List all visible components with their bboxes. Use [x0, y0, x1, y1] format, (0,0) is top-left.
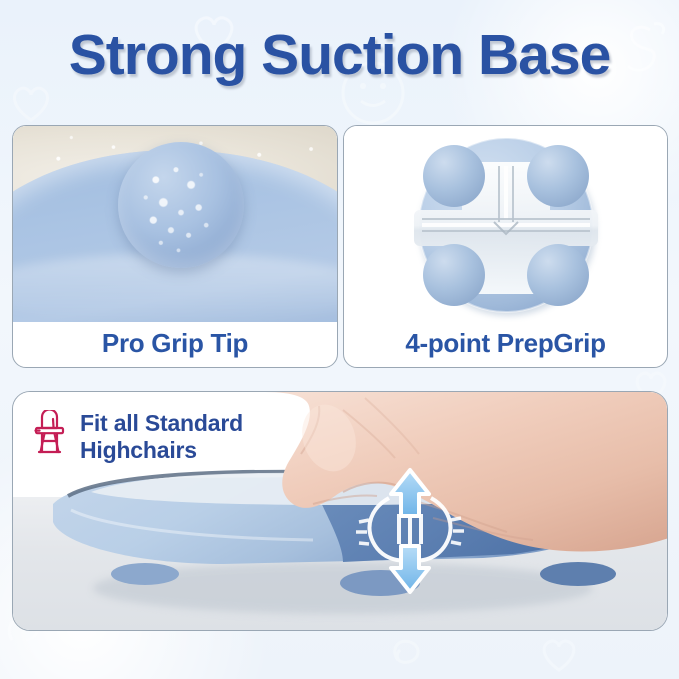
panel-pro-grip-tip: Pro Grip Tip [12, 125, 338, 368]
highchair-fit-line-1: Fit all Standard [80, 410, 243, 437]
suction-tip-closeup-photo [13, 126, 337, 322]
panel-caption-pro-grip-tip: Pro Grip Tip [13, 328, 337, 359]
hand-pressing-plate-photo: Fit all Standard Highchairs [13, 392, 667, 630]
heart-doodle-icon [532, 628, 586, 678]
prepgrip-illustration [344, 126, 667, 322]
swirl-doodle-icon [386, 630, 444, 676]
page-title: Strong Suction Base [0, 27, 679, 84]
water-droplets [118, 142, 244, 268]
four-point-prepgrip-photo [344, 126, 667, 322]
highchair-icon [33, 410, 69, 456]
grip-tip-dome [118, 142, 244, 268]
highchair-fit-label: Fit all Standard Highchairs [80, 410, 243, 463]
highchair-fit-line-2: Highchairs [80, 437, 243, 464]
highchair-fit-badge: Fit all Standard Highchairs [33, 410, 243, 463]
panel-highchair-fit: Fit all Standard Highchairs [12, 391, 668, 631]
promo-card: Strong Suction Base Pro Grip Tip [0, 0, 679, 679]
panel-prepgrip: 4-point PrepGrip [343, 125, 668, 368]
panel-caption-prepgrip: 4-point PrepGrip [344, 328, 667, 359]
